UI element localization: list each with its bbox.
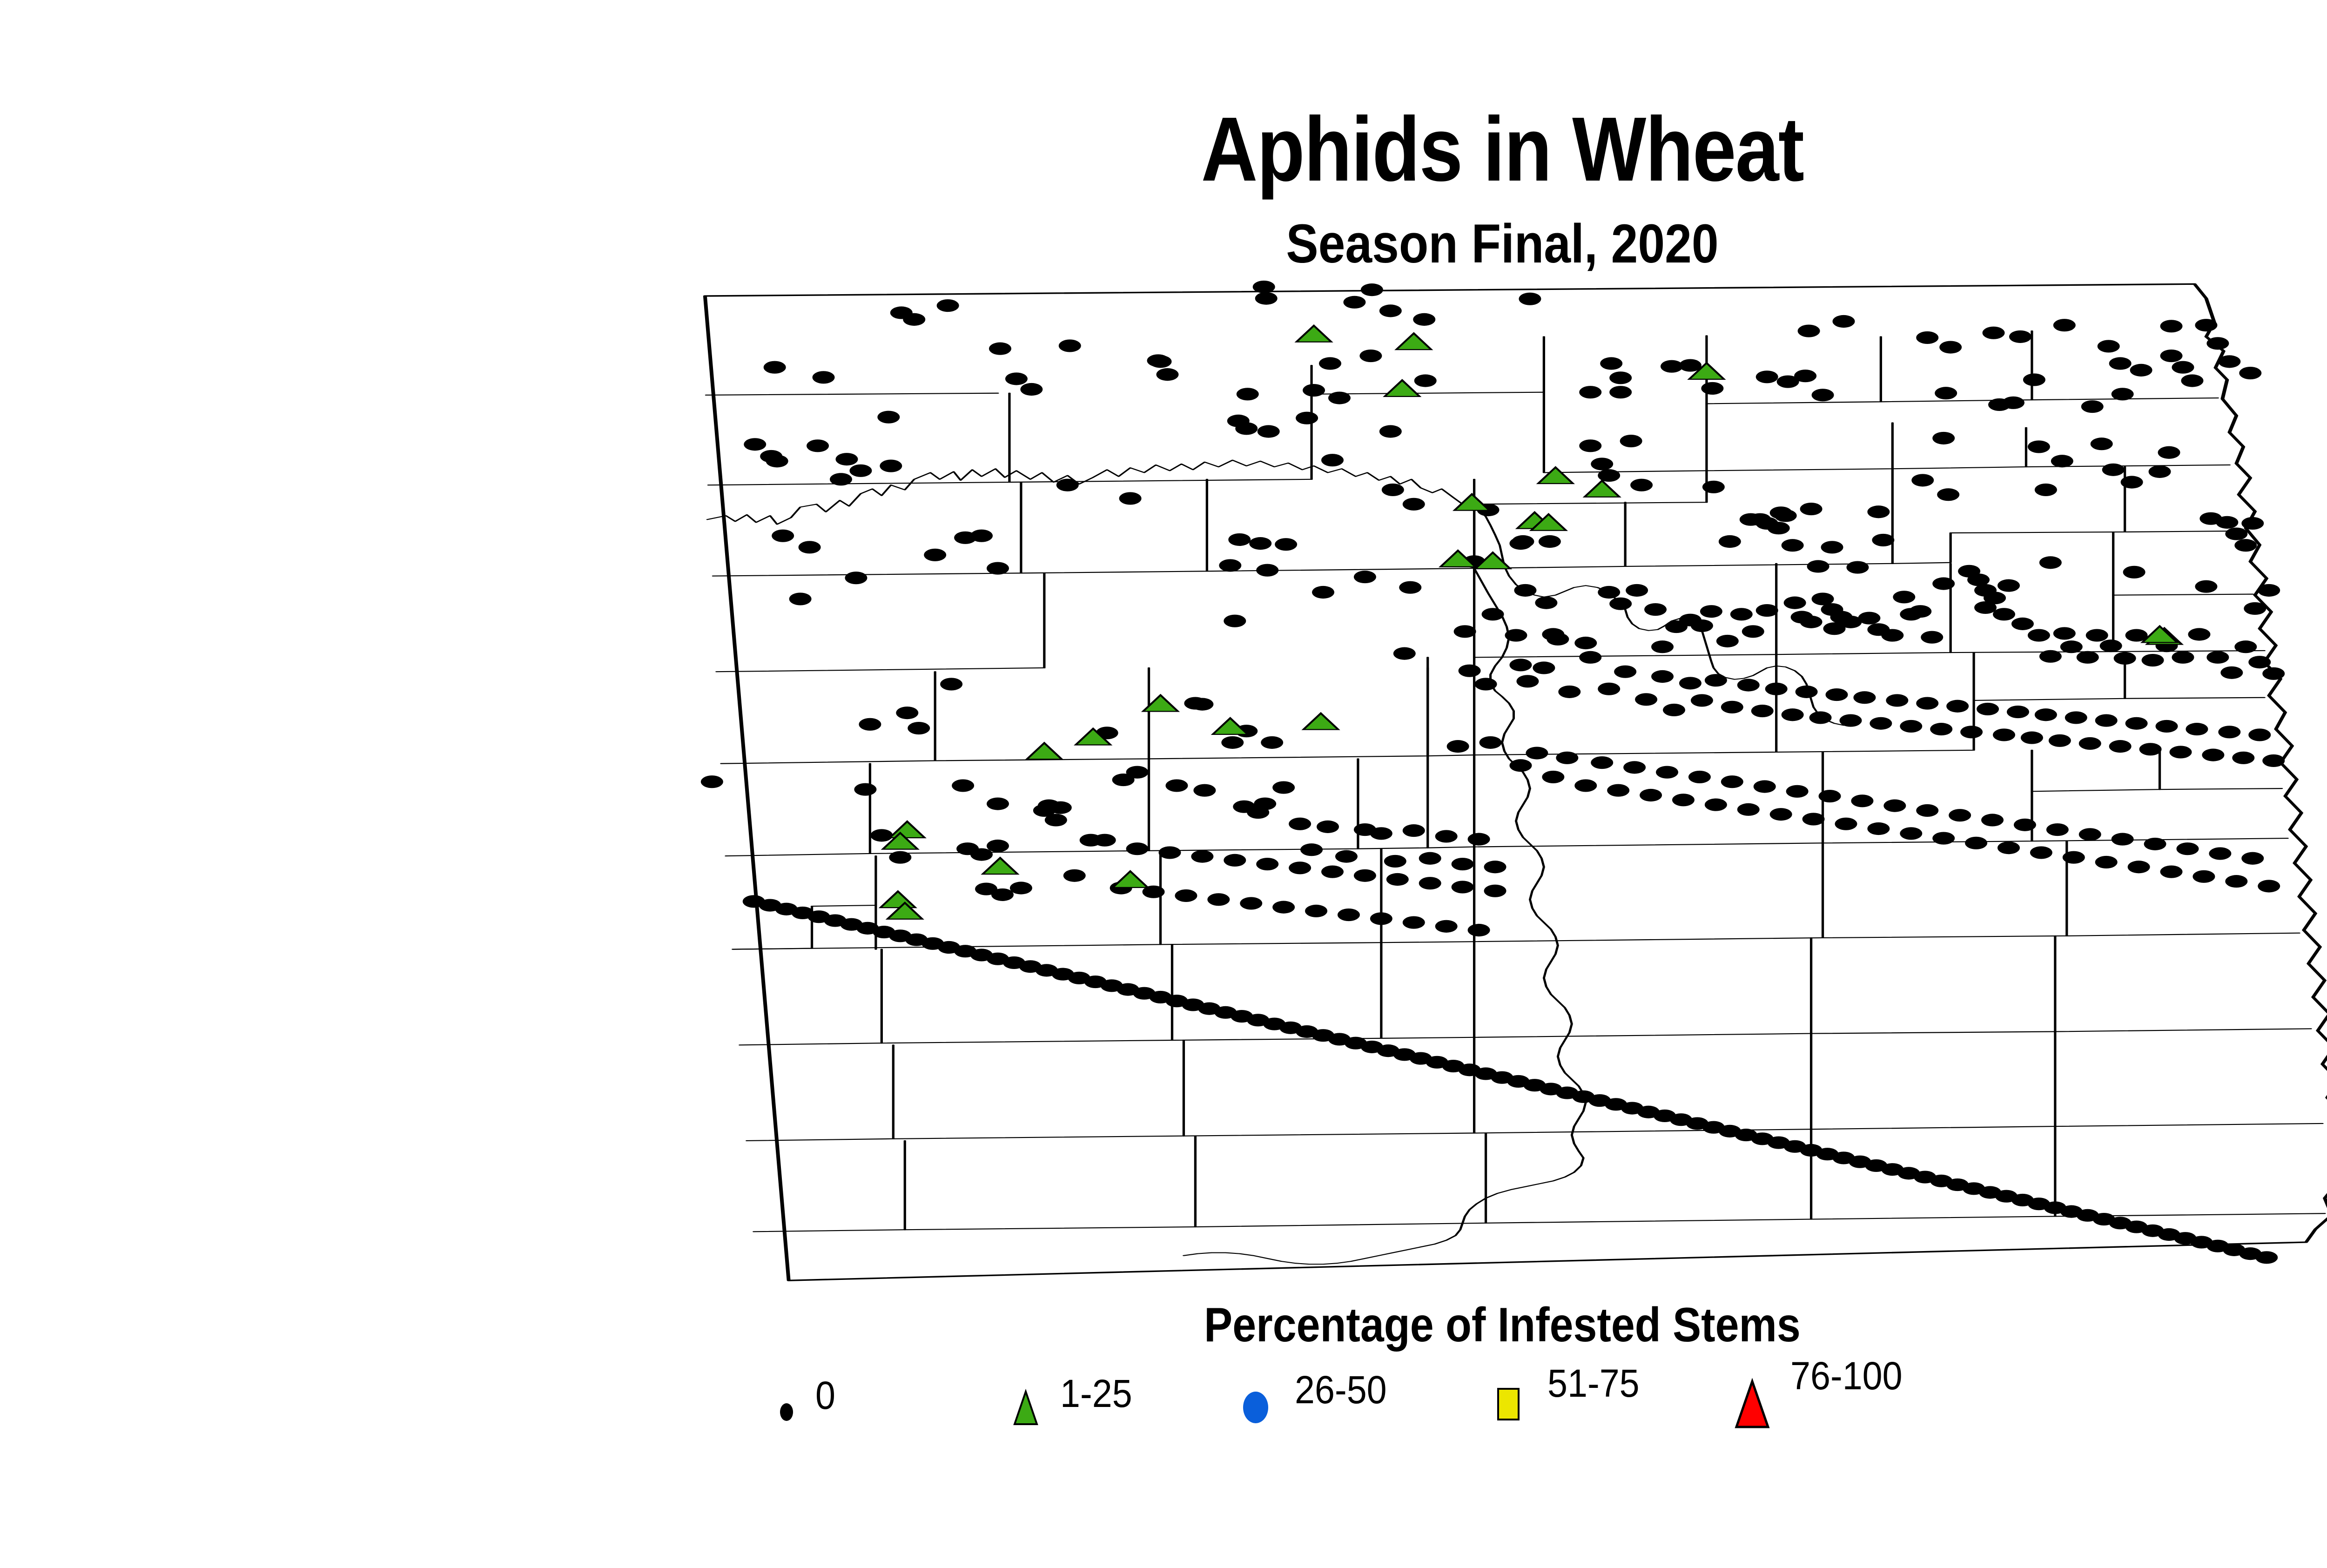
data-point	[1851, 794, 1873, 807]
data-point	[952, 779, 974, 792]
data-point	[1935, 387, 1957, 399]
data-point	[870, 829, 893, 841]
data-point	[1224, 615, 1246, 627]
data-point	[1275, 538, 1297, 551]
data-point	[1997, 841, 2020, 854]
data-point	[2035, 708, 2057, 721]
data-point	[2149, 465, 2171, 478]
data-point	[2139, 743, 2162, 755]
data-point	[1796, 686, 1818, 698]
data-point	[813, 371, 835, 384]
data-point	[1730, 608, 1753, 620]
data-point	[1609, 386, 1632, 398]
page-subtitle: Season Final, 2020	[180, 212, 2327, 276]
data-point	[1193, 784, 1216, 797]
data-point	[1737, 679, 1760, 691]
data-point	[1751, 705, 1774, 717]
data-point	[835, 453, 858, 465]
data-point	[1916, 331, 1938, 344]
data-point	[1296, 412, 1318, 424]
data-point	[859, 718, 881, 731]
data-point	[1059, 339, 1081, 352]
data-point	[2181, 374, 2203, 387]
data-point	[1354, 869, 1376, 882]
data-point	[1916, 804, 1938, 817]
data-point	[2109, 357, 2132, 370]
data-point	[1656, 766, 1678, 779]
data-point	[1705, 674, 1727, 686]
data-point	[2035, 484, 2057, 496]
data-point	[1459, 665, 1481, 677]
data-point	[1835, 818, 1857, 830]
legend-label-0: 0	[815, 1373, 835, 1418]
data-point	[2209, 847, 2231, 860]
data-point	[1800, 503, 1823, 515]
data-point	[2125, 717, 2148, 730]
data-point	[987, 562, 1009, 575]
data-point	[1289, 818, 1311, 830]
data-point	[1319, 357, 1341, 370]
data-point	[1600, 357, 1622, 370]
data-point	[2188, 628, 2210, 640]
data-point	[1932, 832, 1955, 844]
data-point	[1900, 827, 1922, 840]
data-point	[1644, 603, 1667, 616]
data-point	[1765, 683, 1788, 695]
data-point	[2060, 640, 2083, 653]
data-point	[1886, 694, 1908, 707]
data-point	[1821, 541, 1843, 553]
data-point	[2081, 400, 2104, 413]
data-point	[1798, 324, 1820, 337]
data-point	[1384, 855, 1406, 868]
data-point	[1005, 372, 1028, 385]
data-point	[1688, 771, 1711, 783]
data-point	[1175, 889, 1197, 902]
data-point	[1983, 327, 2005, 339]
data-point	[2186, 723, 2208, 735]
data-point	[1691, 619, 1713, 632]
data-point	[2021, 732, 2043, 744]
data-point	[1598, 586, 1620, 599]
data-point	[1049, 801, 1072, 814]
data-point	[2195, 580, 2217, 593]
data-point	[1312, 586, 1334, 599]
data-point	[1219, 559, 1241, 572]
data-point	[2177, 842, 2199, 855]
data-point	[1749, 513, 1771, 526]
data-point	[2049, 734, 2071, 747]
data-point	[2195, 319, 2217, 331]
data-point	[2258, 584, 2280, 597]
data-point	[1721, 701, 1743, 713]
data-point	[1235, 422, 1258, 435]
map-svg	[661, 279, 2327, 1294]
data-point	[1321, 454, 1344, 466]
data-point	[1435, 830, 1458, 842]
legend-label-4: 76-100	[1790, 1353, 1903, 1399]
data-point	[991, 888, 1014, 901]
data-point	[1261, 736, 1283, 749]
data-point	[1435, 920, 1458, 933]
data-point	[2114, 652, 2136, 665]
data-point	[2077, 651, 2099, 664]
data-point	[772, 530, 794, 542]
data-point	[1867, 822, 1890, 835]
data-point	[1756, 370, 1778, 383]
data-point	[2007, 706, 2029, 718]
data-point	[1807, 560, 1829, 572]
data-point	[1010, 882, 1032, 894]
data-point	[2046, 823, 2069, 836]
data-point	[1475, 678, 1497, 690]
data-point	[2053, 627, 2076, 639]
green-triangle-icon	[1009, 1380, 1052, 1432]
data-point	[1343, 296, 1365, 309]
data-point	[908, 722, 930, 734]
data-point	[1630, 479, 1653, 491]
data-point	[2234, 539, 2257, 552]
data-point	[2216, 516, 2238, 529]
legend-title: Percentage of Infested Stems	[180, 1298, 2327, 1353]
data-point	[1370, 912, 1392, 925]
data-point	[1094, 834, 1116, 847]
data-point	[1900, 720, 1922, 733]
data-point	[1305, 905, 1327, 917]
data-point	[1737, 803, 1760, 816]
data-point	[1946, 700, 1969, 713]
data-point	[1754, 780, 1776, 793]
data-point	[937, 299, 959, 312]
data-point	[1556, 752, 1578, 764]
data-point	[1623, 761, 1646, 774]
data-point	[889, 851, 911, 864]
data-point	[2202, 749, 2224, 761]
data-point	[1949, 809, 1971, 821]
data-point	[1651, 670, 1674, 683]
data-point	[1993, 608, 2015, 620]
north-dakota-map	[661, 279, 2327, 1294]
data-point	[1484, 861, 1506, 873]
data-point	[2244, 602, 2266, 615]
data-point	[2079, 828, 2101, 841]
data-point	[2030, 846, 2052, 859]
data-point	[1020, 383, 1042, 396]
data-point	[1672, 794, 1695, 806]
data-point	[1159, 846, 1181, 859]
data-point	[1833, 315, 1855, 328]
data-point	[1272, 901, 1295, 914]
data-point	[1786, 785, 1809, 798]
data-point	[1609, 598, 1632, 610]
data-point	[1519, 293, 1541, 305]
data-point	[1984, 592, 2006, 604]
data-point	[1756, 604, 1778, 617]
data-point	[1579, 439, 1601, 452]
data-point	[1591, 458, 1613, 470]
data-point	[2014, 819, 2036, 831]
data-point	[2144, 838, 2166, 850]
data-point	[1512, 535, 1534, 548]
data-point	[1482, 608, 1504, 620]
legend-label-3: 51-75	[1547, 1361, 1640, 1406]
data-point	[1228, 533, 1251, 546]
data-point	[1981, 814, 2004, 826]
data-point	[903, 313, 925, 326]
data-point	[1328, 391, 1351, 404]
data-point	[2053, 319, 2076, 331]
data-point	[2160, 865, 2183, 878]
data-point	[1359, 350, 1382, 362]
data-point	[1516, 675, 1539, 687]
data-point	[1909, 605, 1931, 618]
data-point	[2086, 629, 2108, 641]
data-point	[1883, 800, 1906, 812]
data-point	[2130, 364, 2152, 377]
data-point	[1126, 766, 1149, 779]
data-point	[1452, 881, 1474, 893]
data-point	[1598, 683, 1620, 695]
data-point	[1468, 924, 1490, 936]
data-point	[1965, 837, 1987, 849]
data-point	[1317, 821, 1339, 833]
data-point	[2239, 367, 2261, 379]
data-point	[744, 438, 766, 451]
data-point	[2220, 666, 2243, 679]
data-point	[2258, 880, 2280, 892]
data-point	[924, 549, 946, 561]
data-point	[989, 343, 1011, 355]
data-point	[1505, 629, 1527, 641]
data-point	[1768, 522, 1790, 534]
data-point	[1454, 625, 1476, 638]
data-point	[1240, 897, 1262, 909]
data-point	[2128, 861, 2150, 873]
data-point	[1930, 723, 1952, 735]
data-point	[877, 411, 900, 424]
legend: Percentage of Infested Stems 0 1-25 26-5…	[0, 1298, 2327, 1493]
data-point	[1419, 877, 1441, 889]
data-point	[1191, 850, 1213, 863]
data-point	[1977, 703, 1999, 715]
data-point	[1535, 597, 1557, 609]
data-point	[1393, 647, 1416, 660]
data-point	[2218, 726, 2240, 738]
data-point	[1289, 861, 1311, 874]
data-point	[1620, 435, 1642, 447]
data-point	[1414, 374, 1437, 387]
data-point	[1509, 759, 1532, 772]
data-point	[1719, 535, 1741, 548]
data-point	[1579, 386, 1601, 398]
data-point	[1939, 341, 1962, 353]
data-point	[2112, 388, 2134, 400]
data-point	[1056, 479, 1079, 491]
data-point	[1591, 756, 1613, 769]
data-point	[701, 775, 723, 788]
data-point	[1221, 736, 1244, 749]
data-point	[1533, 661, 1555, 674]
data-point	[1379, 304, 1402, 317]
data-point	[2028, 629, 2050, 641]
data-point	[1858, 612, 1880, 624]
data-point	[1960, 726, 1983, 738]
data-point	[1988, 398, 2011, 411]
data-point	[1893, 591, 1915, 603]
data-point	[1335, 850, 1358, 863]
yellow-square-icon	[1492, 1380, 1534, 1432]
data-point	[1361, 283, 1383, 296]
data-point	[1607, 784, 1629, 797]
data-point	[2234, 640, 2257, 653]
data-point	[1184, 697, 1206, 710]
data-point	[1321, 865, 1344, 878]
data-point	[1166, 779, 1188, 792]
page-title: Aphids in Wheat	[210, 97, 2327, 202]
data-point	[1579, 651, 1601, 664]
data-point	[2255, 1251, 2278, 1264]
data-point	[2160, 350, 2183, 362]
data-point	[807, 439, 829, 452]
data-point	[2100, 639, 2122, 652]
data-point	[2039, 650, 2062, 663]
data-point	[2098, 340, 2120, 352]
data-point	[1721, 775, 1743, 788]
data-point	[1354, 571, 1376, 583]
data-point	[2225, 875, 2247, 888]
data-point	[1640, 789, 1662, 801]
data-point	[1809, 711, 1832, 724]
data-point	[1937, 488, 1959, 501]
data-point	[2079, 737, 2101, 750]
data-point	[1300, 843, 1323, 856]
data-point	[1255, 292, 1278, 305]
data-point	[2248, 728, 2271, 741]
data-point	[1598, 469, 1620, 482]
data-point	[1258, 425, 1280, 437]
data-point	[1452, 858, 1474, 870]
data-point	[1819, 790, 1841, 802]
data-point	[1800, 616, 1823, 628]
data-point	[1386, 873, 1409, 886]
data-point	[1574, 637, 1597, 649]
data-point	[1932, 577, 1955, 590]
data-point	[2028, 440, 2050, 453]
data-point	[1150, 355, 1172, 368]
data-point	[1921, 631, 1943, 644]
data-point	[2142, 654, 2164, 666]
data-point	[2091, 437, 2113, 450]
data-point	[1651, 640, 1674, 653]
data-point	[1626, 584, 1648, 597]
blue-circle-icon	[1238, 1380, 1281, 1432]
data-point	[2109, 740, 2132, 753]
data-point	[1542, 771, 1564, 783]
data-point	[1558, 686, 1580, 698]
data-point	[854, 783, 876, 796]
red-triangle-icon	[1734, 1380, 1776, 1432]
data-point	[2172, 651, 2194, 664]
data-point	[1691, 694, 1713, 707]
data-point	[987, 840, 1009, 852]
data-point	[2170, 746, 2192, 758]
data-point	[1403, 824, 1425, 837]
data-point	[1802, 813, 1825, 825]
data-point	[1063, 869, 1086, 882]
data-point	[2206, 337, 2229, 350]
figure-canvas: Aphids in Wheat Season Final, 2020	[0, 0, 2327, 1568]
data-point	[2112, 833, 2134, 846]
data-point	[1539, 535, 1561, 548]
data-point	[1224, 854, 1246, 867]
data-point	[1403, 916, 1425, 929]
legend-label-2: 26-50	[1295, 1367, 1387, 1413]
data-point	[1911, 474, 1934, 486]
data-point	[1484, 885, 1506, 897]
data-point	[1872, 534, 1894, 546]
data-point	[1663, 704, 1685, 716]
data-point	[2039, 556, 2062, 569]
data-point	[1403, 498, 1425, 511]
data-point	[1609, 371, 1632, 384]
data-point	[2063, 851, 2085, 864]
data-point	[2011, 618, 2034, 630]
data-point	[849, 464, 872, 477]
state-outline	[705, 284, 2327, 1280]
data-point	[1635, 693, 1657, 706]
data-point	[1853, 691, 1876, 704]
data-point	[1447, 740, 1469, 753]
data-point	[1826, 688, 1848, 701]
data-point	[1794, 370, 1816, 382]
data-point	[1338, 908, 1360, 921]
data-point	[1840, 714, 1862, 727]
data-point	[2225, 527, 2247, 540]
data-point	[830, 473, 852, 485]
data-point	[1480, 736, 1502, 749]
data-point	[2121, 476, 2143, 488]
data-point	[1379, 425, 1402, 437]
data-point	[1770, 808, 1792, 821]
data-point	[2262, 667, 2285, 680]
data-point	[1846, 561, 1869, 573]
data-point	[987, 797, 1009, 810]
data-point	[1237, 388, 1259, 400]
data-point	[1812, 389, 1834, 401]
data-point	[1705, 799, 1727, 811]
data-point	[2218, 355, 2240, 368]
data-point	[1701, 382, 1723, 395]
data-point	[789, 592, 812, 605]
data-point	[2160, 320, 2183, 332]
data-point	[1574, 779, 1597, 792]
data-point	[2051, 455, 2073, 467]
data-point	[1867, 505, 1890, 518]
legend-items: 0 1-25 26-50 51-75	[773, 1363, 2206, 1442]
data-point	[2123, 566, 2145, 579]
data-point	[940, 678, 962, 690]
data-point	[766, 455, 788, 467]
data-point	[1614, 666, 1636, 678]
data-point	[1272, 781, 1295, 794]
data-point	[2158, 446, 2180, 459]
data-point	[2023, 373, 2045, 386]
data-point	[1254, 797, 1276, 810]
data-point	[1997, 579, 2020, 592]
data-point	[2192, 870, 2215, 883]
data-point	[1958, 565, 1980, 578]
data-point	[1253, 281, 1275, 293]
